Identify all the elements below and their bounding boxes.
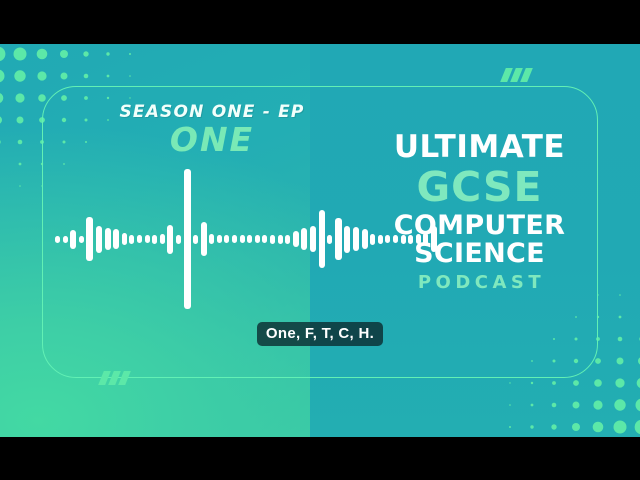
subtitle-caption: One, F, T, C, H. [0, 322, 640, 346]
title-line-computer: COMPUTER [372, 212, 587, 241]
waveform-bar [262, 235, 267, 243]
waveform-bar [137, 235, 142, 243]
episode-number-label: ONE [62, 123, 362, 158]
waveform-bar [145, 235, 150, 243]
waveform-bar [255, 235, 260, 243]
waveform-bar [193, 235, 198, 244]
waveform-bar [105, 228, 111, 250]
waveform-bar [113, 229, 119, 249]
waveform-bar [270, 235, 275, 244]
season-episode-heading: SEASON ONE - EP ONE [62, 102, 362, 158]
waveform-bar [335, 218, 342, 260]
caption-text: One, F, T, C, H. [257, 322, 383, 346]
letterbox-bar-bottom [0, 437, 640, 480]
waveform-bar [319, 210, 325, 268]
title-line-ultimate: ULTIMATE [372, 132, 587, 164]
waveform-bar [201, 222, 207, 256]
podcast-title-block: ULTIMATE GCSE COMPUTER SCIENCE PODCAST [372, 132, 587, 293]
waveform-bar [310, 226, 316, 252]
waveform-bar [232, 235, 237, 243]
waveform-bar [184, 169, 191, 309]
waveform-bar [160, 234, 165, 244]
title-line-podcast: PODCAST [372, 273, 587, 293]
dash-mark [118, 371, 131, 385]
waveform-bar [278, 235, 283, 244]
letterbox-bar-top [0, 0, 640, 44]
dash-marks-top-right [503, 68, 530, 82]
video-frame: SEASON ONE - EP ONE ULTIMATE GCSE COMPUT… [0, 0, 640, 480]
waveform-bar [285, 235, 290, 244]
title-line-gcse: GCSE [372, 166, 587, 209]
waveform-bar [353, 227, 359, 251]
waveform-bar [63, 236, 68, 243]
waveform-bar [55, 236, 60, 243]
waveform-bar [79, 236, 84, 243]
waveform-bar [247, 235, 252, 243]
waveform-bar [240, 235, 245, 243]
waveform-bar [129, 235, 134, 244]
waveform-bar [96, 226, 102, 253]
waveform-bar [86, 217, 93, 261]
waveform-bar [362, 229, 368, 249]
waveform-bar [152, 235, 157, 244]
waveform-bar [293, 231, 299, 247]
waveform-bar [167, 225, 173, 254]
waveform-bar [176, 235, 181, 244]
waveform-bar [122, 233, 127, 245]
waveform-bar [70, 230, 76, 249]
waveform-bar [327, 235, 332, 244]
title-line-science: SCIENCE [372, 240, 587, 269]
waveform-bar [301, 228, 307, 250]
waveform-bar [209, 234, 214, 244]
waveform-bar [224, 235, 229, 243]
audio-waveform [55, 164, 360, 314]
waveform-bar [217, 235, 222, 243]
waveform-bar [344, 226, 350, 253]
podcast-artwork: SEASON ONE - EP ONE ULTIMATE GCSE COMPUT… [0, 44, 640, 437]
season-label: SEASON ONE - EP [62, 102, 362, 122]
dash-marks-bottom-left [101, 371, 128, 385]
